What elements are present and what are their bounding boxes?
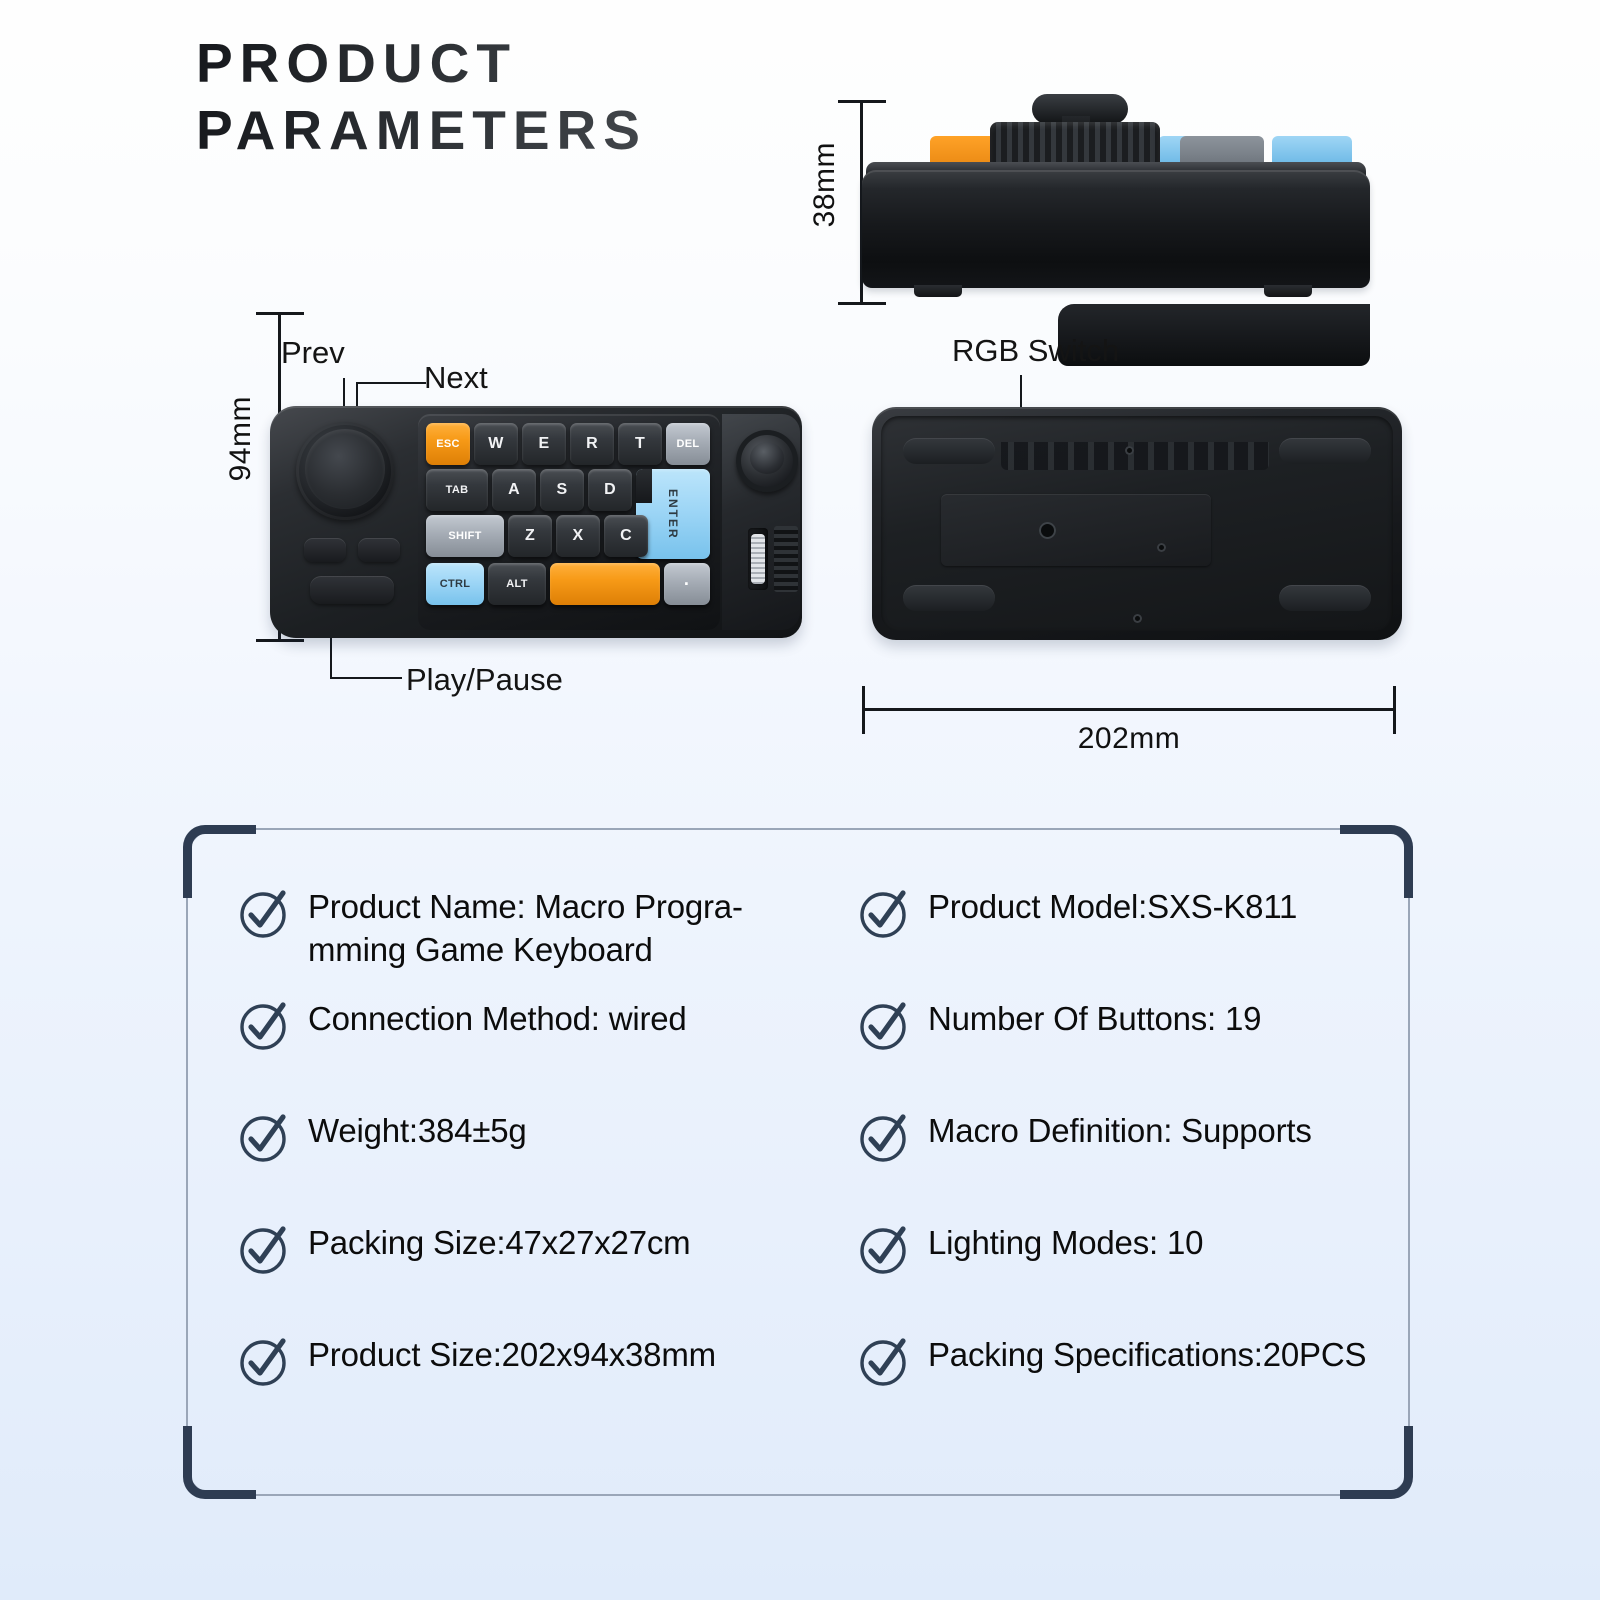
rgb-switch-icon[interactable] — [1039, 522, 1056, 539]
spec-item-label: Product Model:SXS-K811 — [928, 886, 1297, 929]
side-chassis — [862, 170, 1370, 288]
key-label: SHIFT — [448, 530, 481, 542]
joystick-icon[interactable] — [736, 430, 798, 492]
dimension-label-202mm: 202mm — [862, 722, 1396, 756]
check-circle-icon — [238, 1336, 290, 1388]
spec-item-label: Packing Size:47x27x27cm — [308, 1222, 690, 1265]
bottom-inner-face — [881, 416, 1393, 631]
key-label: D — [604, 481, 616, 499]
key-t[interactable]: T — [618, 423, 662, 465]
spec-item-product-size: Product Size:202x94x38mm — [238, 1334, 858, 1446]
dimension-label-38mm: 38mm — [808, 142, 842, 227]
key-label: CTRL — [440, 578, 471, 590]
check-circle-icon — [858, 1000, 910, 1052]
check-circle-icon — [238, 888, 290, 940]
enter-key-notch — [636, 469, 652, 503]
side-foot-left — [914, 285, 962, 297]
dimension-label-94mm: 94mm — [224, 396, 258, 481]
rubber-foot-top-left — [903, 438, 995, 464]
key-label: X — [573, 527, 584, 545]
key-label: Z — [525, 527, 535, 545]
callout-label-next: Next — [424, 360, 488, 396]
side-vents — [774, 526, 798, 592]
screw-icon — [1157, 543, 1166, 552]
bottom-chassis — [872, 407, 1402, 640]
check-circle-icon — [858, 1336, 910, 1388]
prev-button[interactable] — [304, 538, 346, 562]
bottom-vents — [1001, 442, 1269, 470]
dimension-line-horizontal — [862, 708, 1396, 711]
key-e[interactable]: E — [522, 423, 566, 465]
spec-item-product-name: Product Name: Macro Progra-mming Game Ke… — [238, 886, 858, 998]
spec-item-connection-method: Connection Method: wired — [238, 998, 858, 1110]
page-title-line1: PRODUCT — [196, 32, 517, 94]
key-label: TAB — [446, 484, 469, 496]
screw-icon — [1133, 614, 1142, 623]
check-circle-icon — [238, 1000, 290, 1052]
check-circle-icon — [858, 888, 910, 940]
product-top-view: ESCWERTDELTABASDENTERSHIFTZXCCTRLALT· — [270, 398, 810, 644]
next-button[interactable] — [358, 538, 400, 562]
specifications-list: Product Name: Macro Progra-mming Game Ke… — [238, 886, 1368, 1446]
key-a[interactable]: A — [492, 469, 536, 511]
key-label: C — [620, 527, 632, 545]
spec-item-macro-definition: Macro Definition: Supports — [858, 1110, 1368, 1222]
check-circle-icon — [858, 1112, 910, 1164]
infographic-canvas: PRODUCT PARAMETERS 38mm 94mm Prev Next — [0, 0, 1600, 1600]
key-space[interactable] — [550, 563, 660, 605]
spec-item-packing-specifications: Packing Specifications:20PCS — [858, 1334, 1368, 1446]
side-foot-right — [1264, 285, 1312, 297]
spec-item-weight: Weight:384±5g — [238, 1110, 858, 1222]
key-del[interactable]: DEL — [666, 423, 710, 465]
spec-item-lighting-modes: Lighting Modes: 10 — [858, 1222, 1368, 1334]
key-label: ESC — [436, 438, 460, 450]
key-w[interactable]: W — [474, 423, 518, 465]
product-bottom-view — [872, 407, 1402, 640]
key-label: E — [539, 435, 550, 453]
bottom-label-panel — [941, 494, 1211, 566]
spec-item-label: Weight:384±5g — [308, 1110, 527, 1153]
key-space[interactable]: · — [664, 563, 710, 605]
screw-icon — [1125, 446, 1134, 455]
spec-item-label: Number Of Buttons: 19 — [928, 998, 1261, 1041]
key-ctrl[interactable]: CTRL — [426, 563, 484, 605]
spec-item-label: Lighting Modes: 10 — [928, 1222, 1203, 1265]
leader-line-next-h — [356, 382, 426, 384]
spec-item-label: Connection Method: wired — [308, 998, 687, 1041]
key-esc[interactable]: ESC — [426, 423, 470, 465]
callout-label-prev: Prev — [281, 335, 345, 371]
spec-item-packing-size: Packing Size:47x27x27cm — [238, 1222, 858, 1334]
key-d[interactable]: D — [588, 469, 632, 511]
spec-item-label: Packing Specifications:20PCS — [928, 1334, 1366, 1377]
rubber-foot-bottom-left — [903, 585, 995, 611]
product-side-view — [862, 92, 1382, 307]
key-z[interactable]: Z — [508, 515, 552, 557]
check-circle-icon — [238, 1224, 290, 1276]
check-circle-icon — [238, 1112, 290, 1164]
callout-label-play-pause: Play/Pause — [406, 662, 563, 698]
key-label: ENTER — [666, 489, 680, 540]
play-pause-button[interactable] — [310, 576, 394, 604]
spec-item-label: Product Name: Macro Progra-mming Game Ke… — [308, 886, 743, 972]
spec-item-label: Product Size:202x94x38mm — [308, 1334, 716, 1377]
spec-item-product-model: Product Model:SXS-K811 — [858, 886, 1368, 998]
spec-item-number-of-buttons: Number Of Buttons: 19 — [858, 998, 1368, 1110]
leader-line-playpause-h — [330, 677, 402, 679]
dimension-width-202mm: 202mm — [862, 678, 1396, 748]
key-label: DEL — [677, 438, 700, 450]
key-shift[interactable]: SHIFT — [426, 515, 504, 557]
key-alt[interactable]: ALT — [488, 563, 546, 605]
key-x[interactable]: X — [556, 515, 600, 557]
key-label: W — [488, 435, 503, 453]
key-tab[interactable]: TAB — [426, 469, 488, 511]
specifications-panel: Product Name: Macro Progra-mming Game Ke… — [186, 828, 1410, 1496]
key-label: A — [508, 481, 520, 499]
dimension-cap-top — [256, 312, 304, 315]
key-s[interactable]: S — [540, 469, 584, 511]
key-label: ALT — [506, 578, 527, 590]
key-label: T — [635, 435, 645, 453]
key-r[interactable]: R — [570, 423, 614, 465]
page-title: PRODUCT PARAMETERS — [196, 30, 836, 164]
page-title-line2: PARAMETERS — [196, 97, 836, 164]
callout-label-rgb-switch: RGB Switch — [952, 333, 1119, 369]
key-c[interactable]: C — [604, 515, 648, 557]
key-label: S — [557, 481, 568, 499]
spec-item-label: Macro Definition: Supports — [928, 1110, 1312, 1153]
key-label: R — [586, 435, 598, 453]
knob-icon[interactable] — [296, 422, 394, 520]
scroll-wheel[interactable] — [748, 528, 768, 590]
rubber-foot-bottom-right — [1279, 585, 1371, 611]
rubber-foot-top-right — [1279, 438, 1371, 464]
key-grid: ESCWERTDELTABASDENTERSHIFTZXCCTRLALT· — [426, 423, 712, 621]
check-circle-icon — [858, 1224, 910, 1276]
